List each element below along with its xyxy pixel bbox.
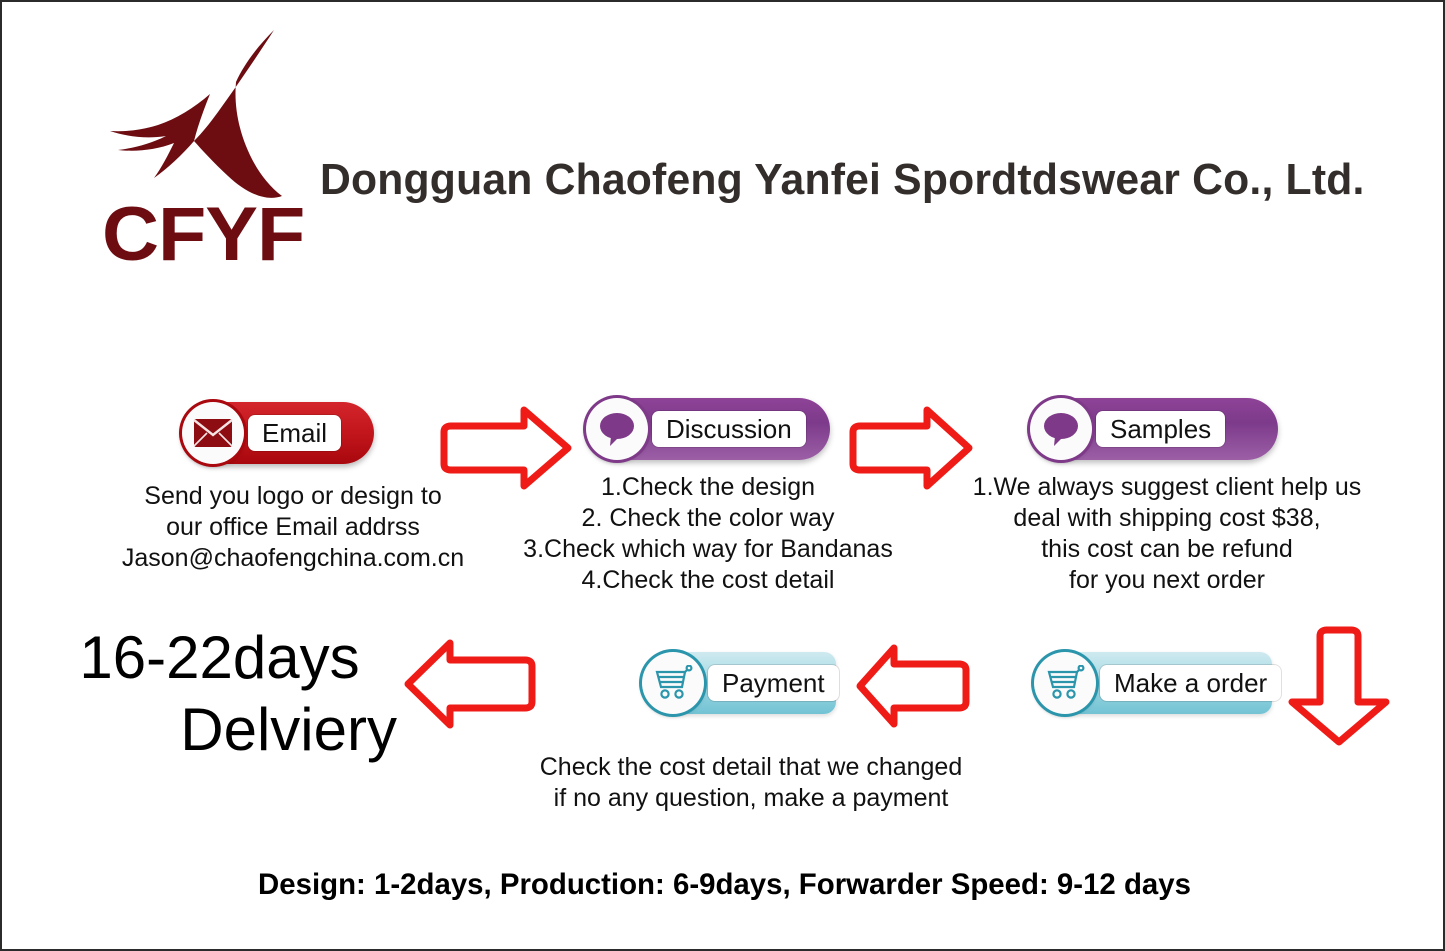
swallow-bird-icon: [106, 24, 311, 199]
delivery-line-1: 16-22days: [42, 622, 397, 694]
arrow-down-icon: [1284, 624, 1394, 753]
caption-line: deal with shipping cost $38,: [952, 503, 1382, 534]
infographic-page: CFYF Dongguan Chaofeng Yanfei Spordtdswe…: [0, 0, 1445, 951]
footer-summary: Design: 1-2days, Production: 6-9days, Fo…: [16, 868, 1432, 902]
caption-line: this cost can be refund: [952, 534, 1382, 565]
badge-label: Email: [248, 415, 341, 451]
badge-label: Make a order: [1100, 665, 1281, 701]
caption-line: Jason@chaofengchina.com.cn: [88, 543, 498, 574]
caption-line: 1.We always suggest client help us: [952, 472, 1382, 503]
caption-line: for you next order: [952, 565, 1382, 596]
caption-line: our office Email addrss: [88, 512, 498, 543]
caption-line: 4.Check the cost detail: [502, 565, 914, 596]
step-badge-samples[interactable]: Samples: [1030, 398, 1278, 460]
header: CFYF Dongguan Chaofeng Yanfei Spordtdswe…: [2, 2, 1445, 292]
speech-bubble-icon: [586, 398, 648, 460]
step-badge-discussion[interactable]: Discussion: [586, 398, 830, 460]
delivery-time: 16-22days Delviery: [42, 622, 397, 766]
shopping-cart-icon: [1034, 652, 1096, 714]
caption-line: if no any question, make a payment: [502, 783, 1000, 814]
step-badge-payment[interactable]: Payment: [642, 652, 836, 714]
step-badge-make-a-order[interactable]: Make a order: [1034, 652, 1272, 714]
arrow-right-icon: [845, 404, 975, 497]
speech-bubble-icon: [1030, 398, 1092, 460]
page-title: Dongguan Chaofeng Yanfei Spordtdswear Co…: [320, 154, 1348, 206]
badge-label: Discussion: [652, 411, 806, 447]
caption-line: 3.Check which way for Bandanas: [502, 534, 914, 565]
caption-line: Check the cost detail that we changed: [502, 752, 1000, 783]
badge-label: Payment: [708, 665, 839, 701]
arrow-left-icon: [400, 636, 540, 737]
envelope-icon: [182, 402, 244, 464]
step-badge-email[interactable]: Email: [182, 402, 374, 464]
caption-payment: Check the cost detail that we changed if…: [502, 752, 1000, 814]
badge-label: Samples: [1096, 411, 1225, 447]
arrow-left-icon: [854, 642, 974, 735]
logo-wordmark: CFYF: [102, 197, 304, 273]
caption-line: 2. Check the color way: [502, 503, 914, 534]
shopping-cart-icon: [642, 652, 704, 714]
delivery-line-2: Delviery: [42, 694, 397, 766]
arrow-right-icon: [436, 404, 576, 497]
caption-samples: 1.We always suggest client help us deal …: [952, 472, 1382, 596]
